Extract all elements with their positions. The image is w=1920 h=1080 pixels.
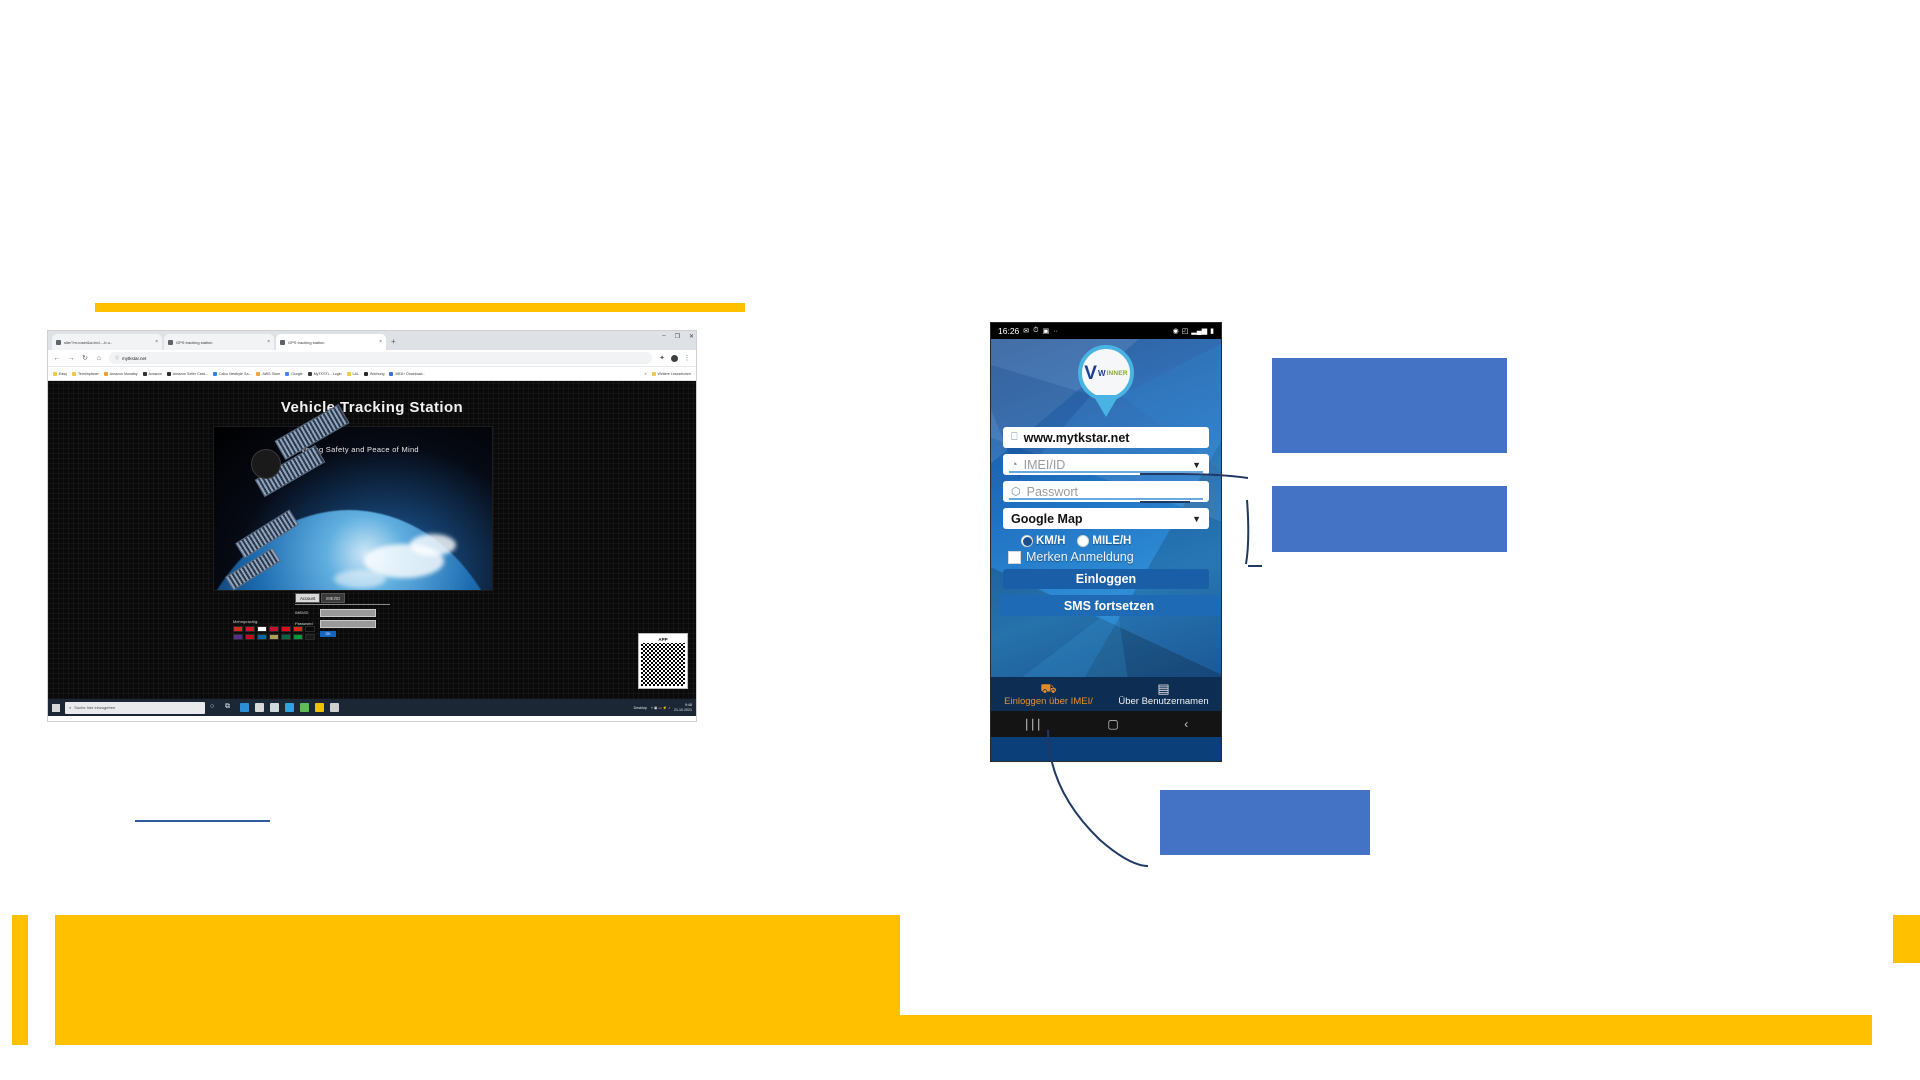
phone-login-form: ⎕ www.mytkstar.net ◔ IMEI/ID ▼ ⬡ Passwor… [1003, 427, 1209, 616]
new-tab-button[interactable]: + [391, 334, 396, 350]
callout-box-password [1272, 486, 1507, 552]
login-button[interactable]: Einloggen [1003, 569, 1209, 589]
alarm-icon: ⏱ [1033, 327, 1038, 335]
back-icon[interactable]: ‹ [1184, 717, 1188, 731]
page-favicon-icon [168, 340, 173, 345]
imei-placeholder: IMEI/ID [1024, 458, 1066, 472]
language-flag[interactable] [293, 626, 303, 632]
more-icon: ·· [1053, 328, 1058, 335]
site-info-icon[interactable]: ⓘ [115, 355, 119, 361]
accent-line-top [95, 303, 745, 312]
logo-rest: INNER [1107, 370, 1128, 377]
website-viewport: Vehicle Tracking Station Delivering Safe… [48, 381, 696, 699]
browser-toolbar: ← → ↻ ⌂ ⓘ mytkstar.net ✦ ⋮ [48, 350, 696, 367]
thin-blue-rule [135, 820, 270, 822]
bookmark-favicon-icon [53, 372, 57, 376]
android-navigation-bar: ∣∣∣ ▢ ‹ [991, 711, 1221, 737]
bookmark-label: Amazon [149, 372, 162, 376]
language-selector: Mehrsprachig: [233, 619, 328, 640]
password-placeholder: Passwort [1027, 485, 1078, 499]
bookmark-favicon-icon [104, 372, 108, 376]
avatar[interactable] [671, 355, 678, 362]
bookmark-label: AWS Store [262, 372, 280, 376]
reload-icon[interactable]: ↻ [81, 354, 89, 362]
radio-kmh[interactable]: KM/H [1021, 535, 1065, 547]
tab-title: GPS tracking station [176, 340, 264, 345]
language-flag[interactable] [257, 626, 267, 632]
bookmark-label: Calcu Newbyte Sa... [219, 372, 252, 376]
tab-title: GPS tracking station [288, 340, 376, 345]
bookmark-item[interactable]: Easy [53, 372, 67, 376]
clock-date: 21.10.2021 [674, 708, 692, 712]
bookmark-item[interactable]: L&L [347, 372, 359, 376]
tab-login-by-username-label: Über Benutzernamen [1118, 696, 1208, 707]
monitor-icon: ⎕ [1011, 431, 1018, 444]
browser-tabstrip: site/?m=user&a=ind...-b.u.. × GPS tracki… [48, 331, 696, 350]
taskbar-tray: Desktop ˄ ▣ ▭ ⚡ ♪ 9:48 21.10.2021 [634, 703, 692, 711]
phone-tabbar: ⛟ Einloggen über IMEI/ ▤ Über Benutzerna… [991, 677, 1221, 711]
language-flag[interactable] [245, 634, 255, 640]
sms-continue-button[interactable]: SMS fortsetzen [999, 595, 1219, 616]
wifi-icon: ◰ [1182, 327, 1189, 335]
callout-box-imei-login-tab [1160, 790, 1370, 855]
lock-icon: ⬡ [1011, 485, 1021, 498]
language-flag[interactable] [281, 634, 291, 640]
map-provider-value: Google Map [1011, 512, 1083, 526]
chevron-down-icon[interactable]: ▼ [1192, 460, 1201, 470]
tab-login-by-imei[interactable]: ⛟ Einloggen über IMEI/ [991, 677, 1106, 711]
toolbar-right: ✦ ⋮ [658, 354, 691, 362]
taskbar-app-icon[interactable] [300, 703, 309, 712]
solar-panel [225, 547, 281, 590]
accent-tick-right [1893, 915, 1920, 963]
logo-letter-w: W [1098, 369, 1106, 378]
satellite-graphic [233, 421, 353, 596]
radio-mileh[interactable]: MILE/H [1077, 535, 1131, 547]
bookmark-favicon-icon [364, 372, 368, 376]
close-icon[interactable]: × [267, 339, 270, 345]
language-flag[interactable] [305, 626, 315, 632]
callout-box-imei [1272, 358, 1507, 453]
flag-grid [233, 626, 328, 640]
app-qr-card: APP [638, 633, 688, 689]
forward-icon[interactable]: → [67, 355, 75, 362]
page-favicon-icon [280, 340, 285, 345]
search-placeholder: Suche hier einzugeben [74, 705, 115, 710]
bookmark-label: Amazon Monatsy [110, 372, 138, 376]
bookmark-favicon-icon [167, 372, 171, 376]
bookmark-item[interactable]: Calcu Newbyte Sa... [213, 372, 252, 376]
logo-letter-v: V [1084, 364, 1097, 383]
mail-icon: ✉ [1023, 327, 1029, 335]
taskbar-search-input[interactable]: ⌕ Suche hier einzugeben [65, 702, 205, 714]
bookmarks-overflow[interactable]: » [645, 372, 647, 376]
chevron-double-right-icon: » [645, 372, 647, 376]
folder-icon [652, 372, 656, 376]
unit-radio-group: KM/H MILE/H [1003, 535, 1209, 547]
tray-desktop-label[interactable]: Desktop [634, 706, 647, 710]
bookmark-label: Terminplaner [78, 372, 99, 376]
bookmark-item[interactable]: MEA+ Download... [389, 372, 425, 376]
bookmark-favicon-icon [285, 372, 289, 376]
phone-status-bar: 16:26 ✉ ⏱ ▣ ·· ◉ ◰ ▂▄▆ ▮ [991, 323, 1221, 339]
language-flag[interactable] [245, 626, 255, 632]
home-icon[interactable]: ⌂ [95, 355, 103, 362]
taskbar-app-icon[interactable] [315, 703, 324, 712]
tab-login-by-imei-label: Einloggen über IMEI/ [1004, 696, 1093, 707]
taskbar-app-icon[interactable] [270, 703, 279, 712]
language-flag[interactable] [233, 634, 243, 640]
bookmark-label: Easy [59, 372, 67, 376]
bookmark-other-folder[interactable]: Weitere Lesezeichen [652, 372, 692, 376]
window-controls: – ❐ ✕ [662, 333, 694, 340]
taskbar-app-icon[interactable] [285, 703, 294, 712]
browser-menu-icon[interactable]: ⋮ [683, 354, 691, 362]
password-input[interactable] [320, 620, 376, 628]
bookmark-label: L&L [353, 372, 359, 376]
browser-tab-1[interactable]: site/?m=user&a=ind...-b.u.. × [52, 334, 162, 350]
bookmark-favicon-icon [389, 372, 393, 376]
start-button-icon[interactable] [52, 704, 60, 712]
accent-band-lower [55, 1015, 1872, 1045]
page-favicon-icon [56, 340, 61, 345]
language-flag[interactable] [269, 626, 279, 632]
app-logo: V W INNER [1075, 345, 1137, 423]
imei-input[interactable] [320, 609, 376, 617]
accent-tick-left [12, 915, 28, 1045]
taskbar-app-icon[interactable] [255, 703, 264, 712]
extensions-icon[interactable]: ✦ [658, 354, 666, 362]
phone-login-screen: V W INNER ⎕ www.mytkstar.net ◔ IMEI/ID ▼ [991, 339, 1221, 711]
cortana-icon[interactable]: ○ [210, 703, 219, 712]
bookmark-item[interactable]: Werbung [364, 372, 385, 376]
taskbar-app-icon[interactable] [240, 703, 249, 712]
language-flag[interactable] [269, 634, 279, 640]
bookmark-label: MyTKSTL - Login [314, 372, 342, 376]
address-bar-url: mytkstar.net [122, 356, 146, 361]
tab-login-by-username[interactable]: ▤ Über Benutzernamen [1106, 677, 1221, 711]
map-pin-icon: V W INNER [1078, 345, 1134, 401]
map-pin-tail [1093, 395, 1119, 417]
login-tab-account[interactable]: Account [295, 593, 320, 603]
radio-mileh-label: MILE/H [1092, 535, 1131, 547]
bookmark-item[interactable]: MyTKSTL - Login [308, 372, 342, 376]
radio-indicator-selected [1021, 535, 1033, 547]
taskbar-pinned-apps: ○ ⧉ [210, 703, 339, 712]
language-label: Mehrsprachig: [233, 619, 328, 624]
phone-screenshot: 16:26 ✉ ⏱ ▣ ·· ◉ ◰ ▂▄▆ ▮ V W INNER [990, 322, 1222, 762]
language-flag[interactable] [305, 634, 315, 640]
maximize-icon[interactable]: ❐ [675, 333, 680, 340]
cloud-shape [410, 534, 456, 556]
satellite-dish [251, 449, 281, 479]
recents-icon[interactable]: ∣∣∣ [1024, 717, 1042, 731]
search-icon: ⌕ [69, 705, 71, 710]
minimize-icon[interactable]: – [662, 333, 665, 340]
close-icon[interactable]: × [155, 339, 158, 345]
taskbar-clock[interactable]: 9:48 21.10.2021 [674, 703, 692, 711]
accent-band-main [55, 915, 900, 1015]
language-flag[interactable] [233, 626, 243, 632]
map-provider-select[interactable]: Google Map ▼ [1003, 508, 1209, 529]
language-flag[interactable] [257, 634, 267, 640]
taskbar-app-icon[interactable] [330, 703, 339, 712]
tab-title: site/?m=user&a=ind...-b.u.. [64, 340, 152, 345]
logo-wordmark: V W INNER [1084, 364, 1127, 383]
imei-label: IMEI/ID [295, 611, 317, 616]
bookmark-label: Google [291, 372, 303, 376]
close-icon[interactable]: × [379, 339, 382, 345]
status-right-icons: ◉ ◰ ▂▄▆ ▮ [1173, 327, 1214, 335]
home-icon[interactable]: ▢ [1107, 717, 1118, 731]
bookmark-item[interactable]: Amazon Seller Card... [167, 372, 208, 376]
field-underline [1009, 498, 1203, 500]
server-value: www.mytkstar.net [1024, 431, 1130, 445]
slide-canvas: site/?m=user&a=ind...-b.u.. × GPS tracki… [0, 0, 1920, 1080]
browser-tab-2[interactable]: GPS tracking station × [164, 334, 274, 350]
remember-login-row[interactable]: Merken Anmeldung [1003, 550, 1209, 564]
divider [295, 604, 390, 605]
leader-line-password [1246, 500, 1248, 564]
id-card-icon: ▤ [1157, 682, 1169, 695]
bookmark-item[interactable]: Amazon Monatsy [104, 372, 138, 376]
bookmark-item[interactable]: Amazon [143, 372, 162, 376]
server-field[interactable]: ⎕ www.mytkstar.net [1003, 427, 1209, 448]
bookmark-favicon-icon [308, 372, 312, 376]
imei-field[interactable]: ◔ IMEI/ID ▼ [1003, 454, 1209, 475]
status-time: 16:26 [998, 326, 1019, 336]
login-tab-imei[interactable]: IMEI/ID [321, 593, 345, 603]
bookmark-favicon-icon [347, 372, 351, 376]
bookmark-item[interactable]: AWS Store [256, 372, 280, 376]
checkbox-remember[interactable] [1008, 551, 1021, 564]
remember-label: Merken Anmeldung [1026, 550, 1134, 564]
car-icon: ⛟ [1040, 682, 1056, 695]
qr-code-image [641, 643, 685, 686]
language-flag[interactable] [281, 626, 291, 632]
browser-tab-3-active[interactable]: GPS tracking station × [276, 334, 386, 350]
imei-row: IMEI/ID [295, 609, 390, 617]
bookmark-label: Weitere Lesezeichen [658, 372, 692, 376]
bookmark-favicon-icon [72, 372, 76, 376]
location-icon: ◉ [1173, 327, 1179, 335]
task-view-icon[interactable]: ⧉ [225, 703, 234, 712]
address-bar[interactable]: ⓘ mytkstar.net [109, 352, 652, 364]
bookmarks-bar: EasyTerminplanerAmazon MonatsyAmazonAmaz… [48, 367, 696, 381]
bookmark-label: MEA+ Download... [395, 372, 425, 376]
language-flag[interactable] [293, 634, 303, 640]
close-window-icon[interactable]: ✕ [689, 333, 694, 340]
screenshot-icon: ▣ [1043, 327, 1050, 335]
bookmark-favicon-icon [143, 372, 147, 376]
bookmark-favicon-icon [256, 372, 260, 376]
battery-icon: ▮ [1210, 327, 1214, 335]
bookmark-label: Amazon Seller Card... [173, 372, 208, 376]
bookmark-favicon-icon [213, 372, 217, 376]
qr-caption: APP [658, 636, 667, 643]
signal-icon: ▂▄▆ [1191, 327, 1207, 335]
user-icon: ◔ [1011, 459, 1018, 471]
back-icon[interactable]: ← [53, 355, 61, 362]
password-field[interactable]: ⬡ Passwort [1003, 481, 1209, 502]
bookmark-label: Werbung [370, 372, 385, 376]
bookmark-item[interactable]: Terminplaner [72, 372, 99, 376]
login-tabs: Account IMEI/ID [295, 593, 390, 603]
field-underline [1009, 471, 1203, 473]
windows-taskbar: ⌕ Suche hier einzugeben ○ ⧉ Desktop ˄ ▣ … [48, 699, 696, 716]
browser-screenshot: site/?m=user&a=ind...-b.u.. × GPS tracki… [47, 330, 697, 722]
bookmark-item[interactable]: Google [285, 372, 303, 376]
radio-indicator [1077, 535, 1089, 547]
tray-icons[interactable]: ˄ ▣ ▭ ⚡ ♪ [651, 706, 670, 710]
page-title: Vehicle Tracking Station [48, 399, 696, 416]
chevron-down-icon[interactable]: ▼ [1192, 514, 1201, 524]
radio-kmh-label: KM/H [1036, 535, 1065, 547]
